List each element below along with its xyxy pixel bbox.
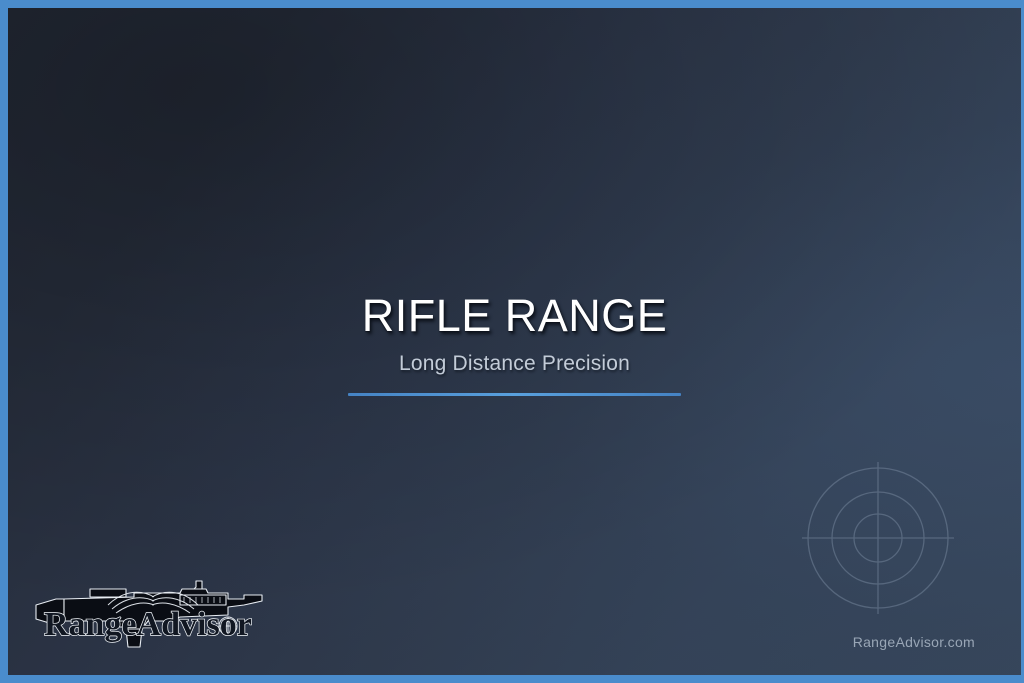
title-block: RIFLE RANGE Long Distance Precision <box>8 293 1021 396</box>
page-title: RIFLE RANGE <box>8 293 1021 340</box>
rifle-logo-icon: RangeAdvisor <box>30 575 276 655</box>
logo-wordmark: RangeAdvisor <box>44 606 252 643</box>
watermark-url: RangeAdvisor.com <box>853 634 975 650</box>
page-subtitle: Long Distance Precision <box>8 352 1021 376</box>
presentation-slide: RIFLE RANGE Long Distance Precision <box>0 0 1024 683</box>
accent-rule-divider <box>348 393 681 396</box>
